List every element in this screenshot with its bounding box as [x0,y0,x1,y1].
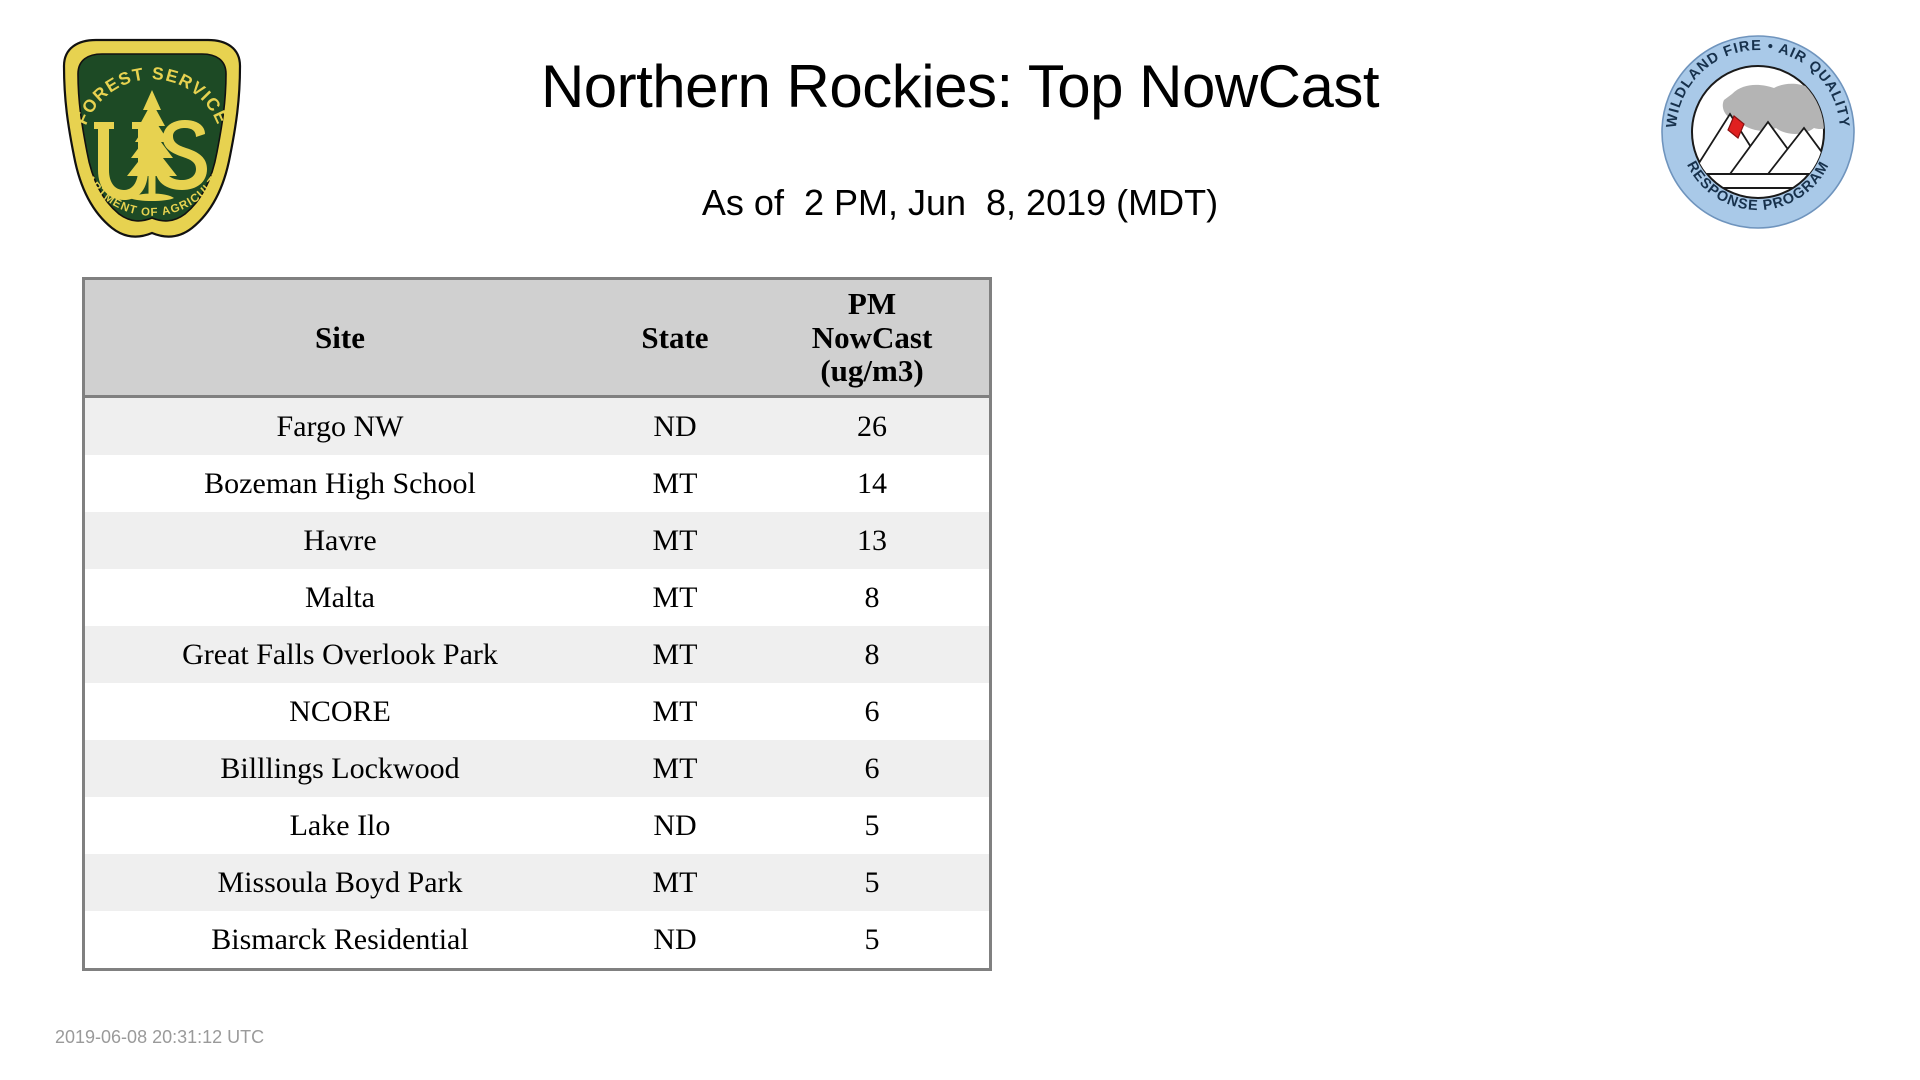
cell-state: MT [595,455,755,512]
cell-site: Fargo NW [85,397,595,456]
nowcast-table-container: Site State PM NowCast (ug/m3) [82,277,992,971]
cell-site: Malta [85,569,595,626]
footer-timestamp: 2019-06-08 20:31:12 UTC [55,1027,264,1048]
cell-value: 13 [755,512,989,569]
table-row: Havre MT 13 [85,512,989,569]
cell-site: Missoula Boyd Park [85,854,595,911]
cell-value: 6 [755,683,989,740]
cell-site: Billlings Lockwood [85,740,595,797]
page-title: Northern Rockies: Top NowCast [270,52,1650,121]
cell-site: Bismarck Residential [85,911,595,968]
table-row: Billlings Lockwood MT 6 [85,740,989,797]
table-row: Bismarck Residential ND 5 [85,911,989,968]
usfs-shield-icon: FOREST SERVICE DEPARTMENT OF AGRICULTURE [52,30,252,245]
table-row: Malta MT 8 [85,569,989,626]
cell-site: Great Falls Overlook Park [85,626,595,683]
wildland-fire-air-quality-logo-icon: WILDLAND FIRE • AIR QUALITY RESPONSE PRO… [1658,32,1858,232]
cell-value: 14 [755,455,989,512]
column-header-pm-nowcast: PM NowCast (ug/m3) [755,280,989,397]
cell-value: 26 [755,397,989,456]
table-row: Bozeman High School MT 14 [85,455,989,512]
cell-state: MT [595,683,755,740]
cell-state: MT [595,854,755,911]
column-header-state-line-1: State [595,321,755,354]
cell-state: ND [595,397,755,456]
cell-state: MT [595,512,755,569]
table-body: Fargo NW ND 26 Bozeman High School MT 14… [85,397,989,969]
cell-state: MT [595,626,755,683]
cell-value: 5 [755,854,989,911]
table-row: Missoula Boyd Park MT 5 [85,854,989,911]
nowcast-table: Site State PM NowCast (ug/m3) [85,280,989,968]
cell-site: Lake Ilo [85,797,595,854]
column-header-site-line-1: Site [85,321,595,354]
column-header-pm-nowcast-line-3: (ug/m3) [755,354,989,387]
column-header-site: Site [85,280,595,397]
cell-value: 5 [755,797,989,854]
cell-state: MT [595,569,755,626]
table-header: Site State PM NowCast (ug/m3) [85,280,989,397]
table-row: Great Falls Overlook Park MT 8 [85,626,989,683]
cell-state: ND [595,911,755,968]
cell-value: 6 [755,740,989,797]
cell-site: NCORE [85,683,595,740]
cell-site: Bozeman High School [85,455,595,512]
table-header-row: Site State PM NowCast (ug/m3) [85,280,989,397]
column-header-state: State [595,280,755,397]
cell-site: Havre [85,512,595,569]
header-band: FOREST SERVICE DEPARTMENT OF AGRICULTURE [0,0,1920,270]
table-row: Fargo NW ND 26 [85,397,989,456]
cell-value: 8 [755,569,989,626]
table-row: Lake Ilo ND 5 [85,797,989,854]
cell-value: 8 [755,626,989,683]
table-row: NCORE MT 6 [85,683,989,740]
column-header-pm-nowcast-line-1: PM [755,287,989,320]
cell-state: MT [595,740,755,797]
page-subtitle: As of 2 PM, Jun 8, 2019 (MDT) [270,182,1650,224]
column-header-pm-nowcast-line-2: NowCast [755,321,989,354]
cell-state: ND [595,797,755,854]
cell-value: 5 [755,911,989,968]
